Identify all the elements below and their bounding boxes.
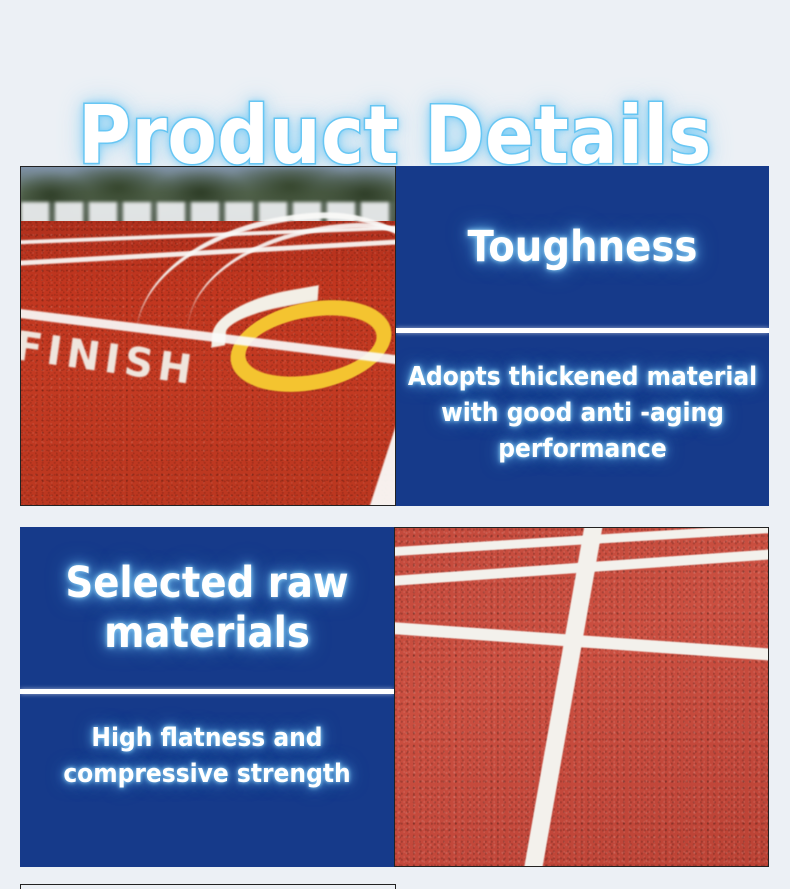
heading-area: Toughness [396, 166, 769, 328]
photo-artwork [395, 528, 768, 866]
running-track-lane-lines-closeup-photo [394, 527, 769, 867]
product-details-page: Product Details FINISH [0, 0, 790, 889]
feature-card-grid: FINISH Toughness Adopts thickened materi… [20, 166, 769, 888]
card-heading: Toughness [468, 222, 698, 272]
photo-artwork: FINISH [21, 167, 395, 505]
body-area: High flatness and compressive strength [20, 694, 394, 867]
selected-raw-materials-text-panel: Selected raw materials High flatness and… [20, 527, 394, 867]
toughness-text-panel: Toughness Adopts thickened material with… [396, 166, 769, 506]
card-body-text: High flatness and compressive strength [30, 720, 384, 792]
running-track-finish-line-photo: FINISH [20, 166, 396, 506]
card-heading: Selected raw materials [34, 558, 380, 658]
heading-area: Selected raw materials [20, 527, 394, 689]
feature-card-toughness: FINISH Toughness Adopts thickened materi… [20, 166, 769, 506]
next-card-row-partial [20, 884, 769, 889]
next-card-image-stub [20, 884, 396, 889]
body-area: Adopts thickened material with good anti… [396, 333, 769, 506]
feature-card-selected-raw-materials: Selected raw materials High flatness and… [20, 527, 769, 867]
card-body-text: Adopts thickened material with good anti… [406, 359, 759, 467]
